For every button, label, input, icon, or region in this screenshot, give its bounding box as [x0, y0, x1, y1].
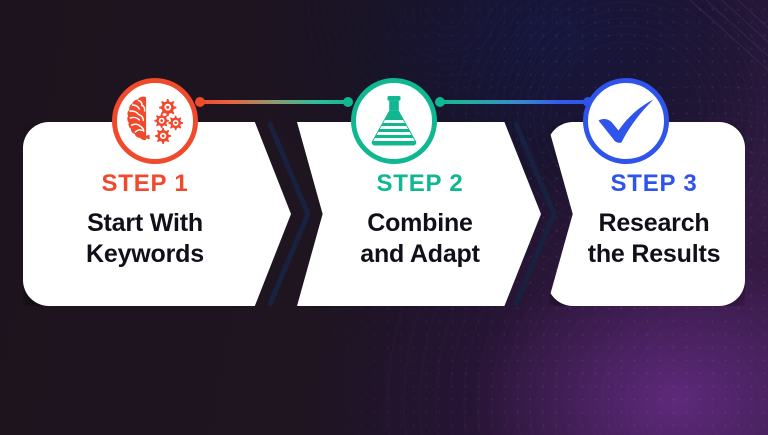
- step-3-label: STEP 3: [573, 172, 735, 196]
- step-card-1-body: STEP 1 Start With Keywords: [23, 172, 291, 269]
- step-3-title: Research the Results: [573, 208, 735, 269]
- connector-step1-step2: [198, 100, 350, 104]
- step-1-icon-badge[interactable]: [112, 78, 198, 164]
- step-2-label: STEP 2: [321, 172, 519, 196]
- infographic-canvas: STEP 1 Start With Keywords STEP 2 Combin…: [0, 0, 768, 435]
- step-card-2-body: STEP 2 Combine and Adapt: [297, 172, 541, 269]
- brain-gears-icon: [126, 95, 184, 147]
- flask-icon: [368, 94, 420, 148]
- step-2-title: Combine and Adapt: [321, 208, 519, 269]
- checkmark-icon: [597, 97, 655, 145]
- step-3-icon-badge[interactable]: [583, 78, 669, 164]
- step-card-3-body: STEP 3 Research the Results: [547, 172, 745, 269]
- connector-step2-step3: [438, 100, 590, 104]
- step-1-label: STEP 1: [33, 172, 257, 196]
- step-2-icon-badge[interactable]: [351, 78, 437, 164]
- step-1-title: Start With Keywords: [33, 208, 257, 269]
